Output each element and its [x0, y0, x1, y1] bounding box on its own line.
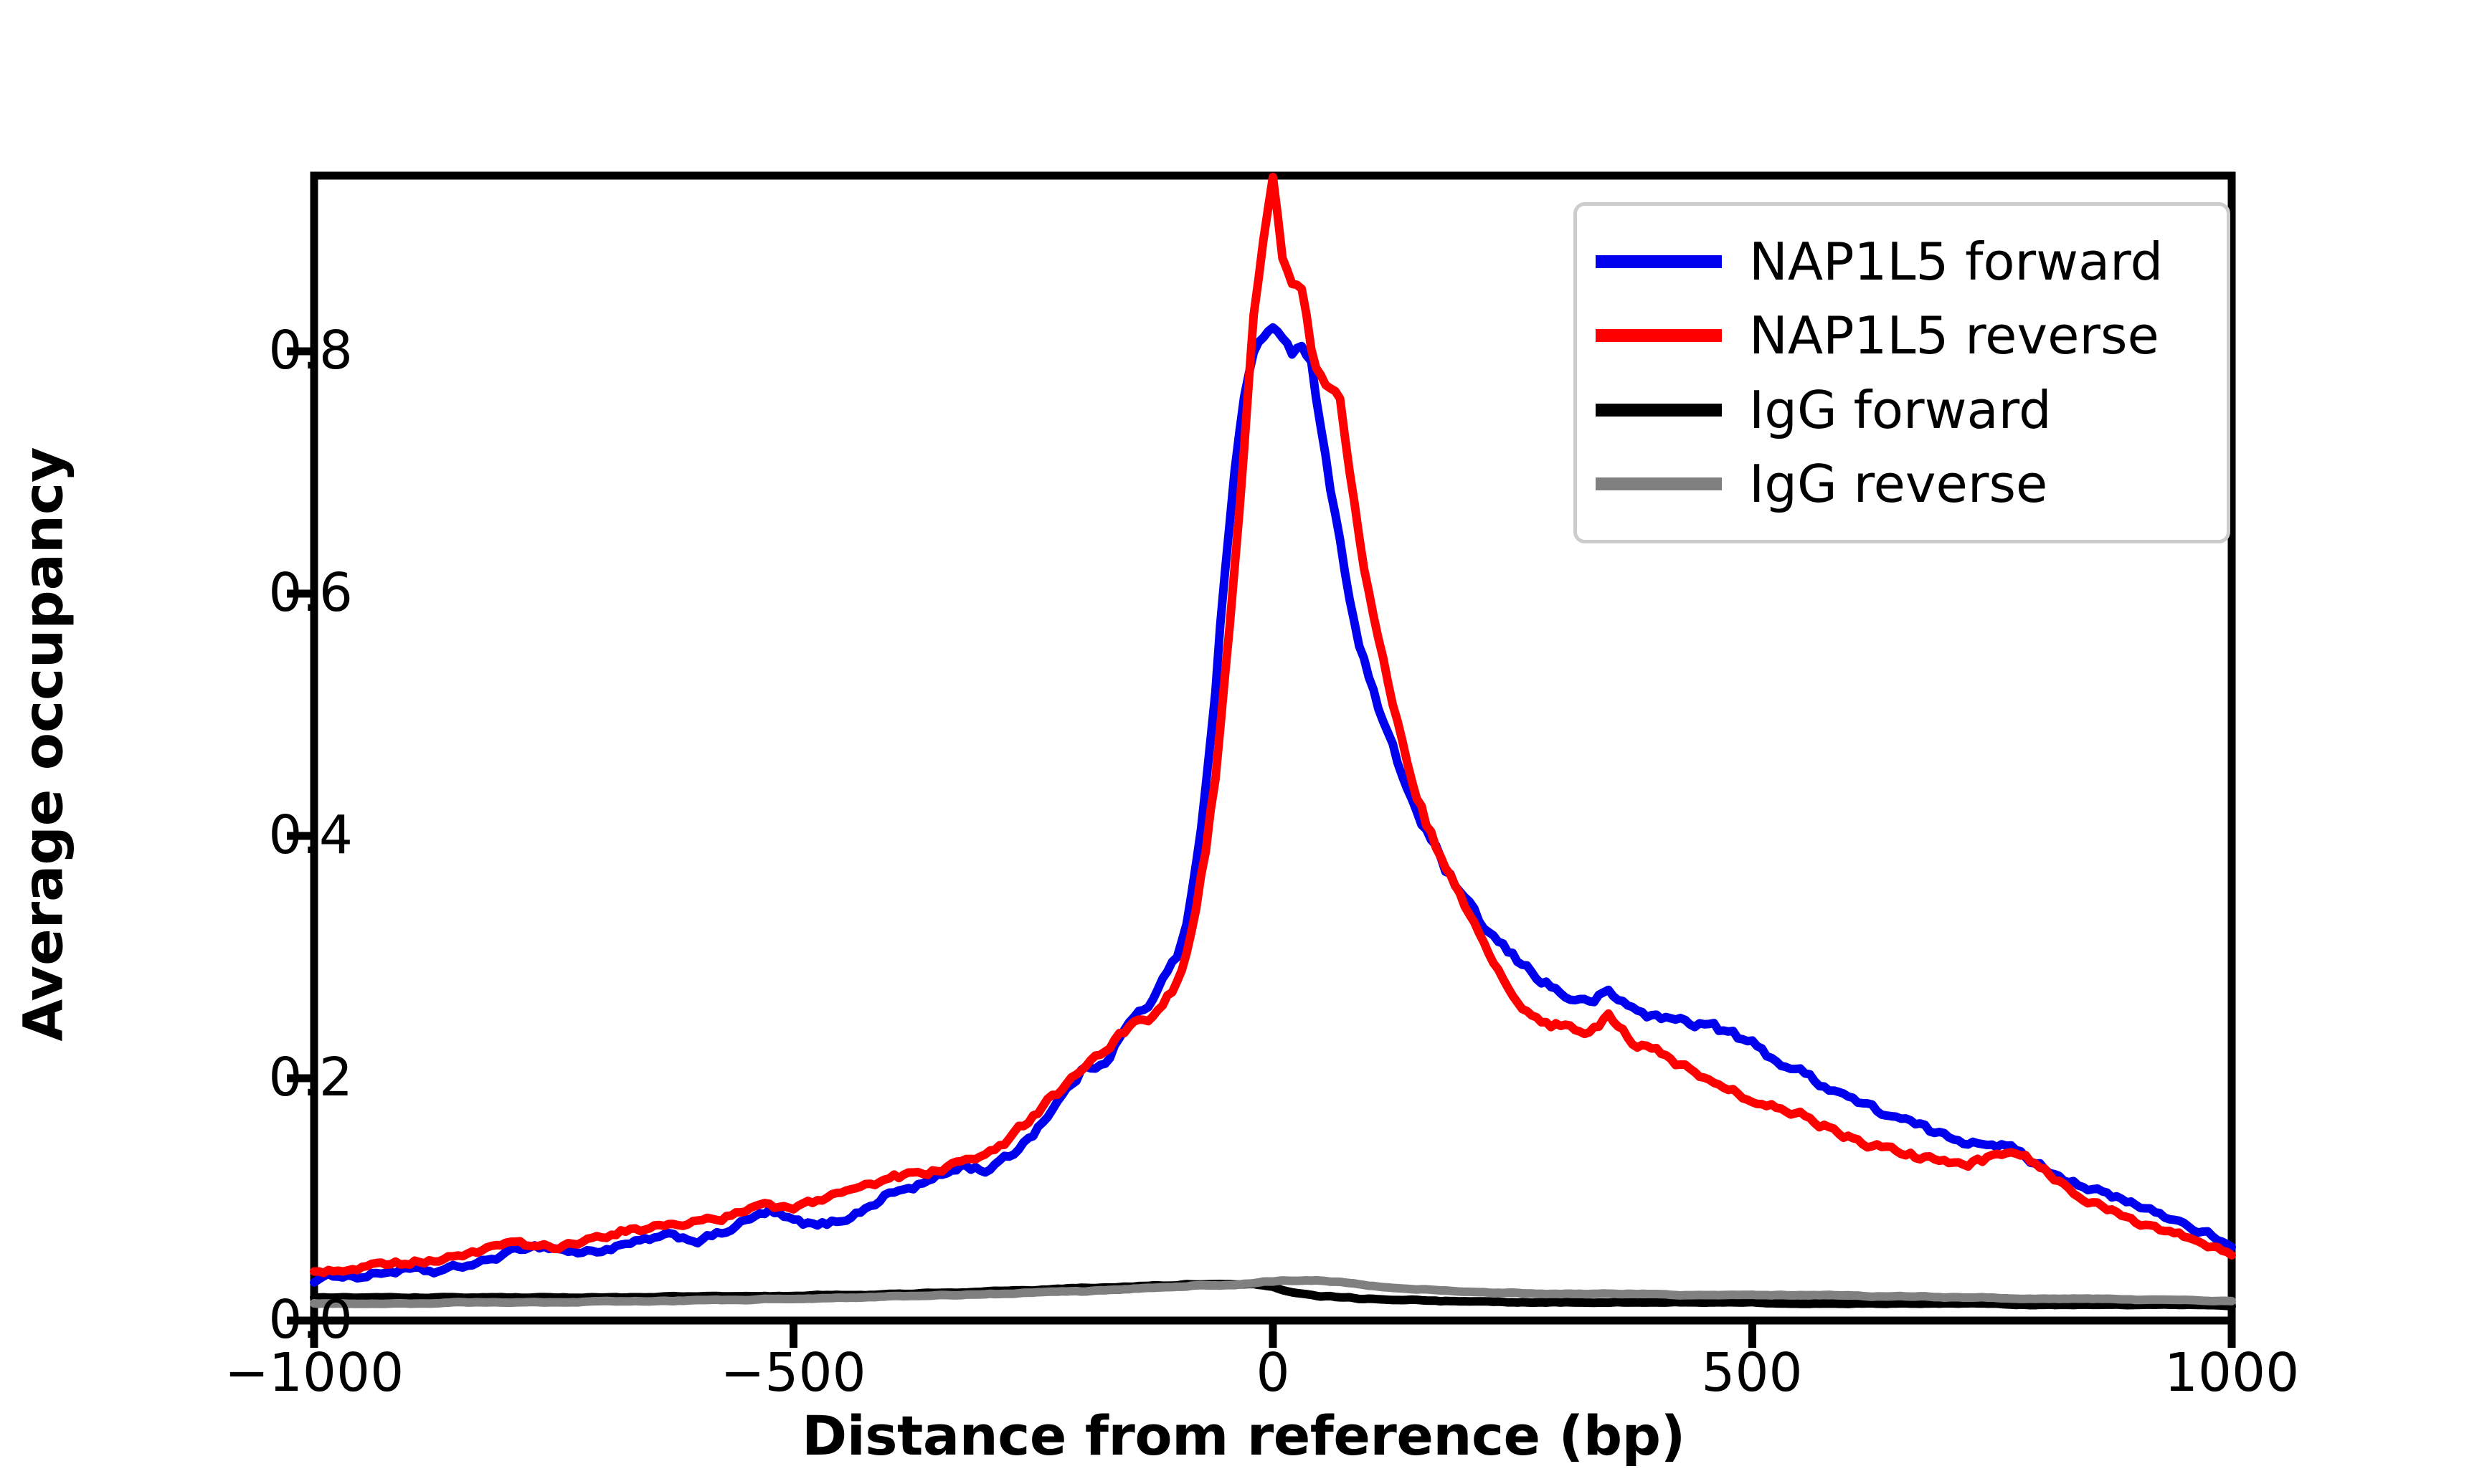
legend-box[interactable]: NAP1L5 forward NAP1L5 reverse IgG forwar…	[1573, 202, 2230, 543]
xtick-label-0: −1000	[171, 1346, 458, 1399]
ytick-label-4: 0.0	[268, 1293, 353, 1346]
legend-label-igg-reverse: IgG reverse	[1749, 458, 2047, 510]
legend-label-nap1l5-reverse: NAP1L5 reverse	[1749, 310, 2159, 361]
legend-item-igg-reverse[interactable]: IgG reverse	[1596, 448, 2211, 520]
legend-swatch-icon-nap1l5-reverse	[1596, 329, 1722, 342]
xtick-label-2: 0	[1129, 1346, 1416, 1399]
legend-swatch-icon-nap1l5-forward	[1596, 255, 1722, 268]
xtick-label-4: 1000	[2088, 1346, 2375, 1399]
xtick-label-3: 500	[1609, 1346, 1895, 1399]
figure-canvas: 0.8 0.6 0.4 0.2 0.0 −1000 −500 0 500 100…	[0, 0, 2487, 1484]
y-axis-label: Average occupancy	[11, 447, 75, 1041]
ytick-label-3: 0.2	[268, 1051, 353, 1104]
x-axis-label: Distance from reference (bp)	[0, 1404, 2487, 1468]
legend-swatch-icon-igg-reverse	[1596, 477, 1722, 490]
ytick-label-2: 0.4	[268, 809, 353, 862]
ytick-label-1: 0.6	[268, 566, 353, 619]
legend-item-nap1l5-forward[interactable]: NAP1L5 forward	[1596, 226, 2211, 298]
legend-label-nap1l5-forward: NAP1L5 forward	[1749, 236, 2163, 287]
ytick-label-0: 0.8	[268, 324, 353, 377]
legend-swatch-icon-igg-forward	[1596, 404, 1722, 417]
legend-label-igg-forward: IgG forward	[1749, 384, 2052, 436]
legend-item-nap1l5-reverse[interactable]: NAP1L5 reverse	[1596, 300, 2211, 371]
xtick-label-1: −500	[650, 1346, 937, 1399]
legend-item-igg-forward[interactable]: IgG forward	[1596, 374, 2211, 446]
